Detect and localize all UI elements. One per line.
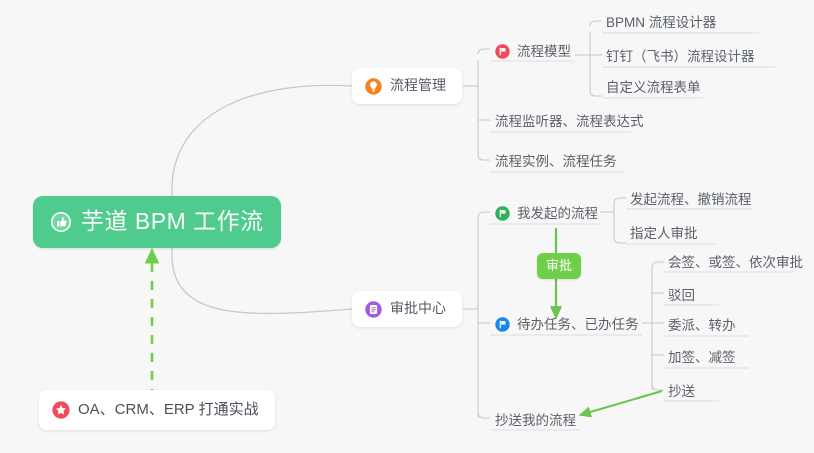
node-process-instance-label: 流程实例、流程任务 <box>495 154 617 170</box>
node-process-listener[interactable]: 流程监听器、流程表达式 <box>491 110 652 136</box>
node-custom-form-label: 自定义流程表单 <box>606 80 701 96</box>
node-process-instance[interactable]: 流程实例、流程任务 <box>491 150 625 176</box>
node-my-initiated-flows[interactable]: 我发起的流程 <box>491 202 606 228</box>
node-approval-center[interactable]: 审批中心 <box>352 291 462 327</box>
star-icon <box>52 401 70 419</box>
node-countersign-label: 会签、或签、依次审批 <box>668 255 803 271</box>
card-integration-practice-label: OA、CRM、ERP 打通实战 <box>78 402 259 419</box>
node-launch-cancel-flow-label: 发起流程、撤销流程 <box>630 192 752 208</box>
node-carbon-copy-label: 抄送 <box>668 384 695 400</box>
node-delegate-transfer-label: 委派、转办 <box>668 318 736 334</box>
edge-root-to-process-management <box>172 85 352 196</box>
flow-arrow-cc-to-ccflow <box>580 391 662 415</box>
flag-icon <box>495 44 510 59</box>
edge-pm-to-instance <box>478 155 490 160</box>
node-carbon-copy[interactable]: 抄送 <box>664 380 703 406</box>
node-custom-form[interactable]: 自定义流程表单 <box>602 76 709 102</box>
node-bpmn-designer[interactable]: BPMN 流程设计器 <box>602 11 724 37</box>
node-reject[interactable]: 驳回 <box>664 284 703 310</box>
edge-pmodel-to-customform <box>590 91 602 96</box>
node-my-initiated-flows-label: 我发起的流程 <box>517 206 598 222</box>
node-process-management-label: 流程管理 <box>390 78 446 93</box>
node-cc-to-me-flows-label: 抄送我的流程 <box>495 413 576 429</box>
node-launch-cancel-flow[interactable]: 发起流程、撤销流程 <box>626 188 760 214</box>
node-process-model[interactable]: 流程模型 <box>491 40 579 66</box>
node-dingtalk-designer-label: 钉钉（飞书）流程设计器 <box>606 49 755 65</box>
approval-flow-label-text: 审批 <box>546 258 572 273</box>
root-node[interactable]: 芋道 BPM 工作流 <box>33 196 281 248</box>
flag-icon <box>495 206 510 221</box>
edge-root-to-approval-center <box>172 248 352 313</box>
root-label: 芋道 BPM 工作流 <box>81 209 264 234</box>
edge-todo-to-cc <box>652 384 664 390</box>
edge-todo-to-countersign <box>652 262 664 268</box>
node-bpmn-designer-label: BPMN 流程设计器 <box>606 15 716 31</box>
clipboard-icon <box>365 301 382 318</box>
approval-flow-label: 审批 <box>537 253 581 279</box>
edge-ac-to-my-initiated <box>478 212 490 218</box>
edge-mi-to-assignee <box>614 237 626 243</box>
node-reject-label: 驳回 <box>668 288 695 304</box>
node-process-management[interactable]: 流程管理 <box>352 68 462 104</box>
node-cc-to-me-flows[interactable]: 抄送我的流程 <box>491 409 584 435</box>
node-process-listener-label: 流程监听器、流程表达式 <box>495 114 644 130</box>
node-todo-done-tasks[interactable]: 待办任务、已办任务 <box>491 313 647 339</box>
thumbs-up-icon <box>50 211 72 233</box>
edge-ac-to-cc-to-me <box>478 412 490 418</box>
node-delegate-transfer[interactable]: 委派、转办 <box>664 314 744 340</box>
card-integration-practice[interactable]: OA、CRM、ERP 打通实战 <box>39 390 275 430</box>
node-countersign[interactable]: 会签、或签、依次审批 <box>664 251 811 277</box>
node-todo-done-tasks-label: 待办任务、已办任务 <box>517 317 639 333</box>
node-process-model-label: 流程模型 <box>517 44 571 60</box>
edge-pm-to-process-model <box>478 49 490 54</box>
lightbulb-icon <box>365 78 382 95</box>
edge-pmodel-to-bpmn <box>590 21 602 26</box>
node-add-remove-sign-label: 加签、减签 <box>668 350 736 366</box>
mindmap-canvas: 芋道 BPM 工作流 流程管理 审批中心 <box>0 0 814 453</box>
node-assignee-approval[interactable]: 指定人审批 <box>626 222 706 248</box>
flag-icon <box>495 317 510 332</box>
node-approval-center-label: 审批中心 <box>390 301 446 316</box>
edge-mi-to-launch <box>614 198 626 203</box>
node-add-remove-sign[interactable]: 加签、减签 <box>664 346 744 372</box>
node-assignee-approval-label: 指定人审批 <box>630 226 698 242</box>
node-dingtalk-designer[interactable]: 钉钉（飞书）流程设计器 <box>602 45 763 71</box>
